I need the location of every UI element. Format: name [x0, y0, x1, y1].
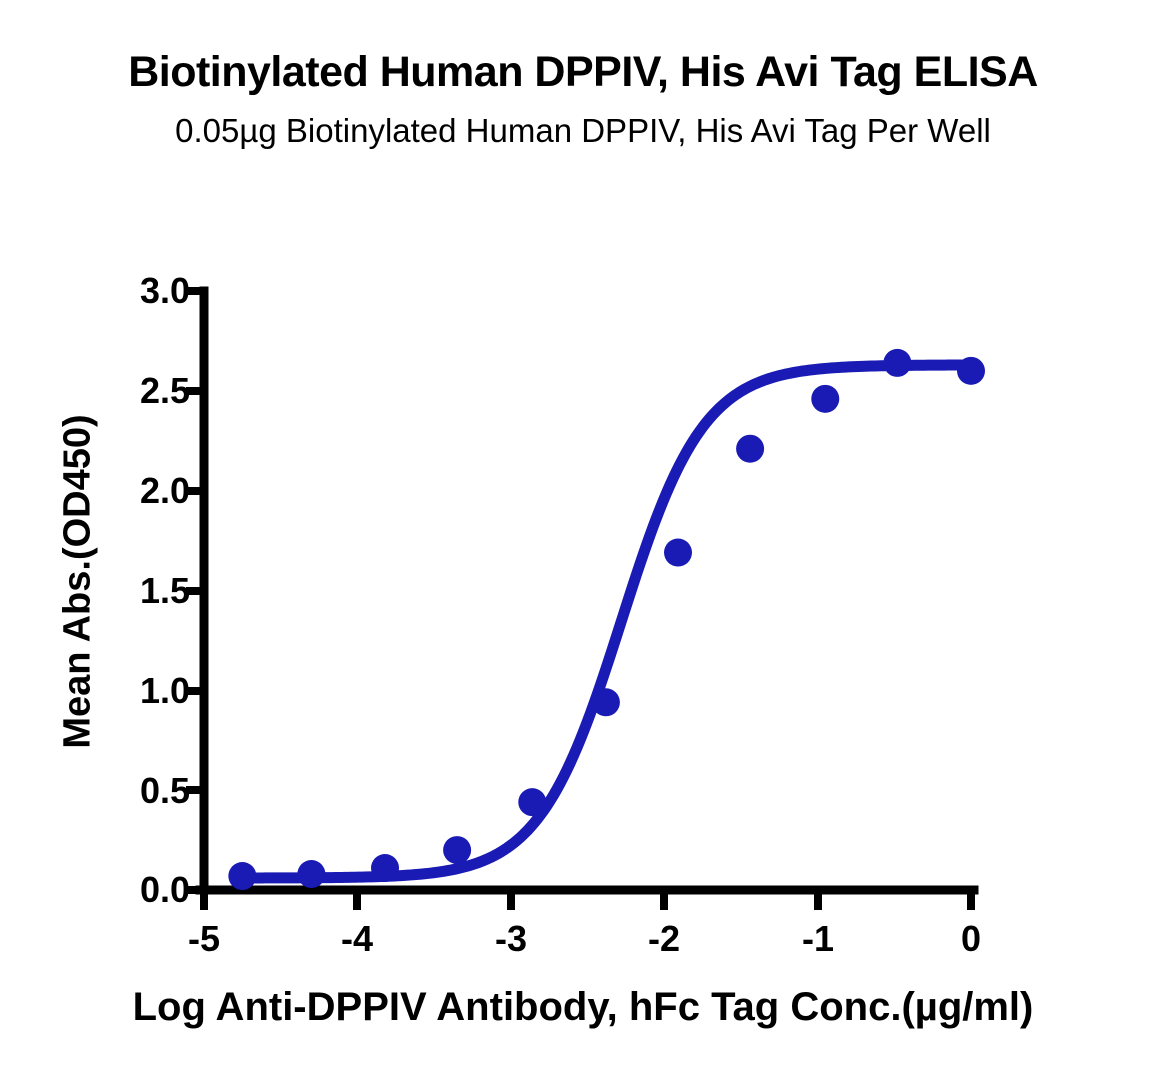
data-point — [371, 854, 399, 882]
plot-area — [0, 0, 1166, 1087]
elisa-chart-figure: Biotinylated Human DPPIV, His Avi Tag EL… — [0, 0, 1166, 1087]
data-point — [957, 357, 985, 385]
sigmoid-fit-curve — [242, 365, 971, 878]
data-point — [664, 539, 692, 567]
data-point-group — [228, 349, 985, 890]
data-point — [883, 349, 911, 377]
axes — [200, 291, 974, 890]
data-point — [228, 862, 256, 890]
data-point — [518, 788, 546, 816]
data-point — [736, 435, 764, 463]
data-point — [297, 860, 325, 888]
data-point — [443, 836, 471, 864]
data-point — [592, 688, 620, 716]
data-point — [811, 385, 839, 413]
